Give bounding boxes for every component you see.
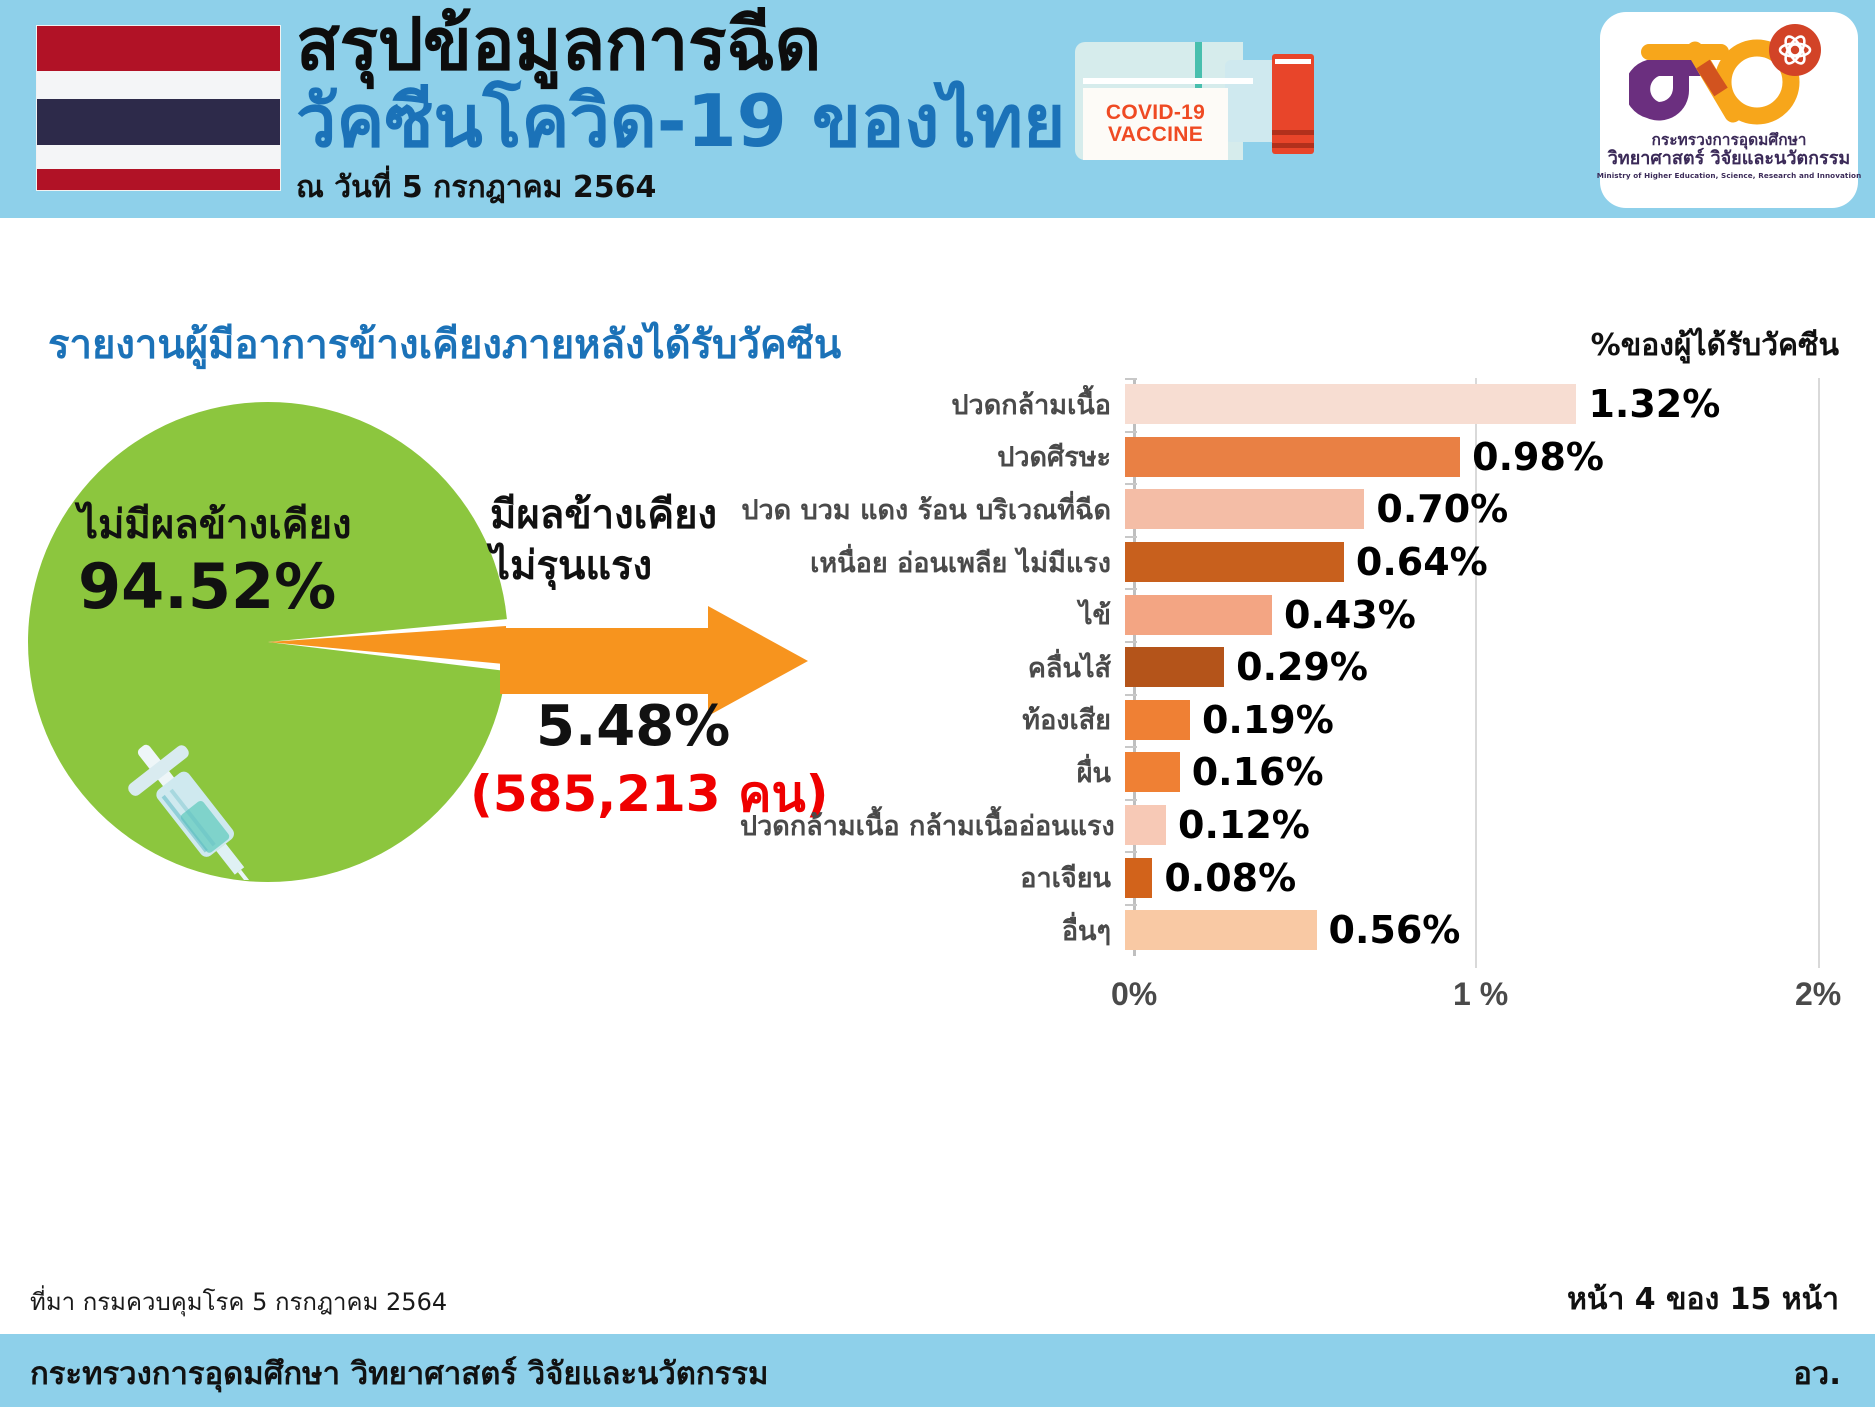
y-axis-tick [1125,904,1137,906]
footer-bar: กระทรวงการอุดมศึกษา วิทยาศาสตร์ วิจัยและ… [0,1334,1875,1407]
y-axis-tick [1125,851,1137,853]
table-row: ปวดกล้ามเนื้อ กล้ามเนื้ออ่อนแรง0.12% [740,799,1850,852]
bar [1125,489,1364,529]
table-row: ปวดศีรษะ0.98% [740,431,1850,484]
bar [1125,437,1460,477]
bar-value-label: 0.19% [1202,698,1334,742]
callout-text: มีผลข้างเคียง ไม่รุนแรง [490,490,717,592]
bar-category-label: ไข้ [740,593,1125,636]
bar-category-label: เหนื่อย อ่อนเพลีย ไม่มีแรง [740,541,1125,584]
table-row: อาเจียน0.08% [740,851,1850,904]
bar [1125,752,1180,792]
table-row: ปวด บวม แดง ร้อน บริเวณที่ฉีด0.70% [740,483,1850,536]
bar-category-label: ปวดกล้ามเนื้อ กล้ามเนื้ออ่อนแรง [740,804,1125,847]
bar-category-label: ผื่น [740,751,1125,794]
y-axis-tick [1125,536,1137,538]
bar-value-label: 0.43% [1284,593,1416,637]
bar-value-label: 0.08% [1164,856,1296,900]
footer-ministry-name: กระทรวงการอุดมศึกษา วิทยาศาสตร์ วิจัยและ… [30,1348,768,1398]
covid-vaccine-vial-icon: COVID-19 VACCINE [1075,30,1305,170]
syringe-icon [118,690,318,880]
atom-icon [1769,24,1821,76]
table-row: อื่นๆ0.56% [740,904,1850,957]
bar [1125,700,1190,740]
bar-value-label: 1.32% [1588,382,1720,426]
vial-label: COVID-19 VACCINE [1083,88,1228,160]
y-axis-tick [1125,483,1137,485]
callout-line1: มีผลข้างเคียง [490,490,717,541]
bar-category-label: ปวด บวม แดง ร้อน บริเวณที่ฉีด [740,488,1125,531]
x-axis-labels: 0%1 %2% [740,976,1850,1026]
table-row: ปวดกล้ามเนื้อ1.32% [740,378,1850,431]
bar-value-label: 0.16% [1192,750,1324,794]
x-axis-tick-label: 2% [1795,976,1841,1013]
y-axis-tick [1125,431,1137,433]
y-axis-tick [1125,799,1137,801]
bar-value-label: 0.98% [1472,435,1604,479]
bar [1125,910,1317,950]
table-row: ท้องเสีย0.19% [740,694,1850,747]
y-axis-tick [1125,746,1137,748]
thailand-flag-icon [36,25,281,191]
ministry-logo-icon: กระทรวงการอุดมศึกษา วิทยาศาสตร์ วิจัยและ… [1600,12,1858,208]
x-axis-tick-label: 0% [1111,976,1157,1013]
bar-category-label: ท้องเสีย [740,698,1125,741]
bar-value-label: 0.56% [1329,908,1461,952]
bar [1125,858,1152,898]
ministry-logo-name-th-2: วิทยาศาสตร์ วิจัยและนวัตกรรม [1608,149,1850,169]
bar-category-label: ปวดศีรษะ [740,435,1125,478]
source-note: ที่มา กรมควบคุมโรค 5 กรกฎาคม 2564 [30,1282,447,1321]
bar-category-label: อาเจียน [740,856,1125,899]
page-title-line2: วัคซีนโควิด-19 ของไทย [296,84,1065,160]
bar [1125,805,1166,845]
x-axis-tick-label: 1 % [1453,976,1508,1013]
table-row: เหนื่อย อ่อนเพลีย ไม่มีแรง0.64% [740,536,1850,589]
vial-label-line1: COVID-19 [1106,102,1205,124]
bar [1125,647,1224,687]
section-title: รายงานผู้มีอาการข้างเคียงภายหลังได้รับวั… [48,312,841,376]
y-axis-tick [1125,588,1137,590]
table-row: คลื่นไส้0.29% [740,641,1850,694]
ministry-logo-name-th-1: กระทรวงการอุดมศึกษา [1652,132,1807,149]
side-effect-bar-chart: ปวดกล้ามเนื้อ1.32%ปวดศีรษะ0.98%ปวด บวม แ… [740,378,1850,988]
bar [1125,384,1576,424]
bar-value-label: 0.64% [1356,540,1488,584]
infographic-page: สรุปข้อมูลการฉีด วัคซีนโควิด-19 ของไทย ณ… [0,0,1875,1407]
ministry-logo-name-en: Ministry of Higher Education, Science, R… [1597,171,1862,180]
bar-category-label: คลื่นไส้ [740,646,1125,689]
bar-value-label: 0.29% [1236,645,1368,689]
page-header: สรุปข้อมูลการฉีด วัคซีนโควิด-19 ของไทย ณ… [0,0,1875,218]
y-axis-tick [1125,694,1137,696]
table-row: ไข้0.43% [740,588,1850,641]
bar-value-label: 0.70% [1376,487,1508,531]
bar [1125,542,1344,582]
table-row: ผื่น0.16% [740,746,1850,799]
y-axis-tick [1125,641,1137,643]
chart-header-label: %ของผู้ได้รับวัคซีน [1591,322,1839,369]
page-number: หน้า 4 ของ 15 หน้า [1567,1276,1839,1323]
header-title-block: สรุปข้อมูลการฉีด วัคซีนโควิด-19 ของไทย ณ… [296,8,1065,211]
bar-category-label: ปวดกล้ามเนื้อ [740,383,1125,426]
ministry-logo-mark [1629,22,1829,132]
footer-abbr: อว. [1793,1348,1841,1398]
bar [1125,595,1272,635]
vial-label-line2: VACCINE [1108,124,1203,146]
page-title-line1: สรุปข้อมูลการฉีด [296,8,1065,80]
report-date: ณ วันที่ 5 กรกฎาคม 2564 [296,164,1065,211]
callout-percent: 5.48% [536,694,730,759]
bar-value-label: 0.12% [1178,803,1310,847]
bar-category-label: อื่นๆ [740,909,1125,952]
pie-label-no-side-effect: ไม่มีผลข้างเคียง [78,492,352,556]
pie-value-no-side-effect: 94.52% [78,550,336,623]
y-axis-tick [1125,378,1137,380]
callout-line2: ไม่รุนแรง [490,541,717,592]
